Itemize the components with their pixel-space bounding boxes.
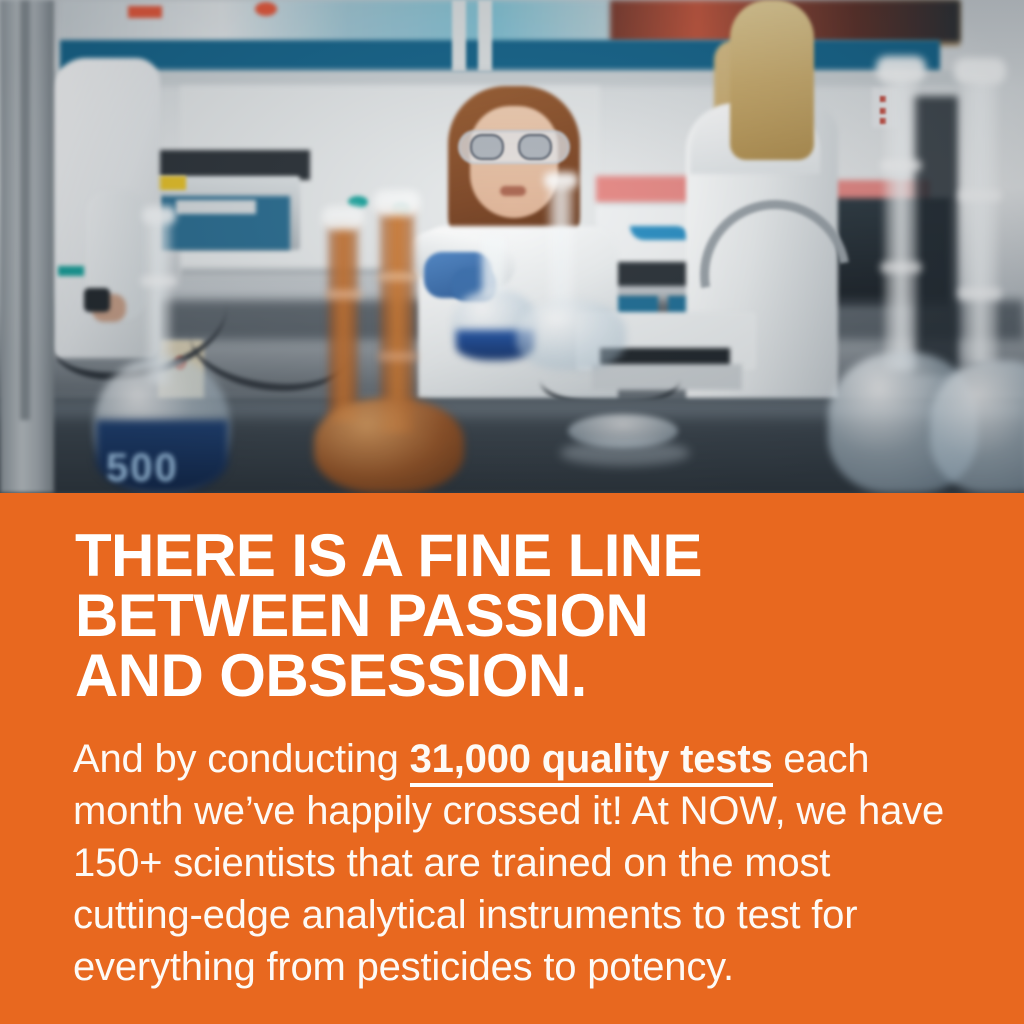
laboratory-photo: 500 [0, 0, 1024, 493]
orange-message-panel: THERE IS A FINE LINE BETWEEN PASSION AND… [0, 493, 1024, 1024]
photo-vignette [0, 0, 1024, 493]
headline: THERE IS A FINE LINE BETWEEN PASSION AND… [75, 526, 975, 706]
headline-line-3: AND OBSESSION. [75, 646, 975, 706]
body-paragraph: And by conducting 31,000 quality tests e… [73, 733, 953, 993]
body-text-before-highlight: And by conducting [73, 737, 410, 781]
quality-tests-highlight: 31,000 quality tests [410, 737, 773, 787]
promotional-poster: 500 THERE IS A FINE LINE BETWEEN PASSION… [0, 0, 1024, 1024]
headline-line-1: THERE IS A FINE LINE [75, 526, 975, 586]
headline-line-2: BETWEEN PASSION [75, 586, 975, 646]
